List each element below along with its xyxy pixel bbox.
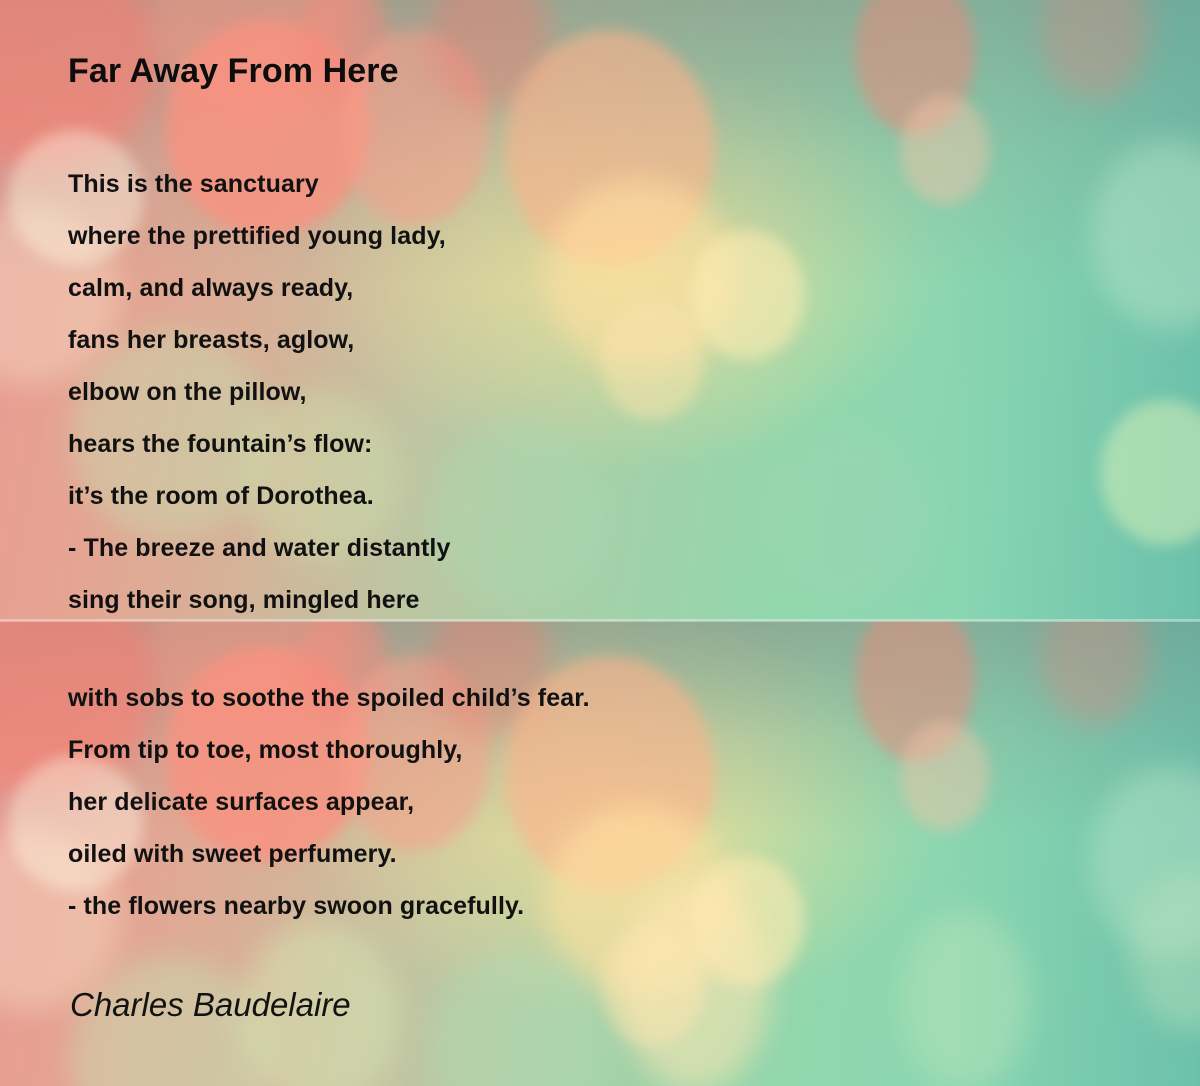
poem-line: From tip to toe, most thoroughly, <box>68 724 590 776</box>
poem-line: elbow on the pillow, <box>68 366 450 418</box>
poem-line: her delicate surfaces appear, <box>68 776 590 828</box>
poem-author: Charles Baudelaire <box>70 986 351 1024</box>
poem-line: fans her breasts, aglow, <box>68 314 450 366</box>
poem-line: where the prettified young lady, <box>68 210 450 262</box>
poem-text-layer: Far Away From Here This is the sanctuary… <box>0 0 1200 1086</box>
poem-card: Far Away From Here This is the sanctuary… <box>0 0 1200 1086</box>
poem-line: - The breeze and water distantly <box>68 522 450 574</box>
poem-line: sing their song, mingled here <box>68 574 450 626</box>
poem-line: oiled with sweet perfumery. <box>68 828 590 880</box>
poem-stanza-1: This is the sanctuary where the prettifi… <box>68 158 450 626</box>
page-title: Far Away From Here <box>68 52 399 91</box>
poem-line: with sobs to soothe the spoiled child’s … <box>68 672 590 724</box>
poem-line: - the flowers nearby swoon gracefully. <box>68 880 590 932</box>
poem-line: hears the fountain’s flow: <box>68 418 450 470</box>
poem-line: it’s the room of Dorothea. <box>68 470 450 522</box>
poem-line: calm, and always ready, <box>68 262 450 314</box>
poem-stanza-2: with sobs to soothe the spoiled child’s … <box>68 672 590 932</box>
poem-line: This is the sanctuary <box>68 158 450 210</box>
